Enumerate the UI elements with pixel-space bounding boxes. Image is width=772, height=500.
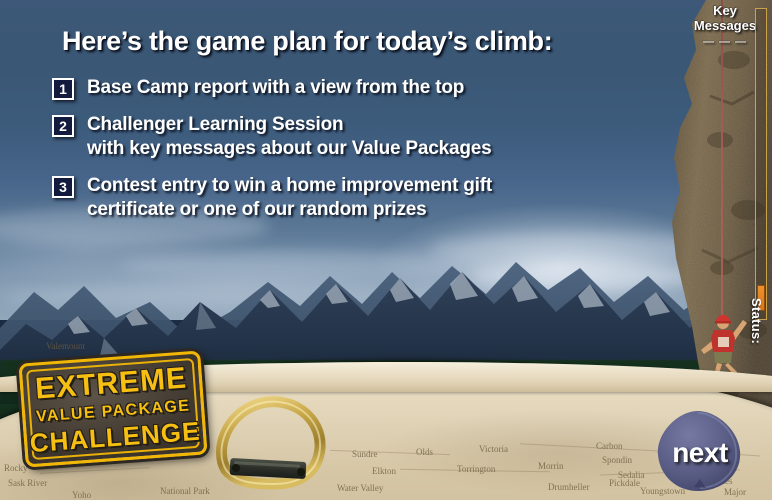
list-item-line: with key messages about our Value Packag… <box>87 137 492 161</box>
map-place-label: Sask River <box>8 478 47 488</box>
map-road-line <box>40 467 150 474</box>
map-place-label: Rocky <box>4 463 28 473</box>
list-item-number: 1 <box>52 78 74 100</box>
list-item: 3 Contest entry to win a home improvemen… <box>52 174 662 222</box>
agenda-list: 1 Base Camp report with a view from the … <box>52 76 662 235</box>
map-place-label: Carbon <box>596 441 623 451</box>
status-progress-bar[interactable] <box>755 8 767 320</box>
key-messages-label: Key Messages — — — <box>688 3 762 50</box>
list-item-line: Contest entry to win a home improvement … <box>87 174 492 198</box>
key-messages-text: Key Messages <box>694 3 756 33</box>
next-button[interactable]: next <box>654 409 746 493</box>
map-place-label: Drumheller <box>548 482 589 492</box>
list-item-line: Challenger Learning Session <box>87 113 492 137</box>
logo-line-extreme: EXTREME <box>34 363 188 404</box>
list-item-text: Base Camp report with a view from the to… <box>87 76 464 100</box>
list-item-number: 2 <box>52 115 74 137</box>
map-place-label: Victoria <box>479 444 508 454</box>
map-place-label: Morrin <box>538 461 564 471</box>
list-item-text: Challenger Learning Session with key mes… <box>87 113 492 161</box>
list-item-text: Contest entry to win a home improvement … <box>87 174 492 222</box>
map-place-label: Water Valley <box>337 483 383 493</box>
carabiner-icon <box>208 392 328 496</box>
map-place-label: Valemount <box>46 341 85 351</box>
map-place-label: National Park <box>160 486 210 496</box>
list-item-number: 3 <box>52 176 74 198</box>
map-place-label: Spondin <box>602 455 632 465</box>
program-logo: EXTREME VALUE PACKAGE CHALLENGE <box>18 350 207 467</box>
list-item: 2 Challenger Learning Session with key m… <box>52 113 662 161</box>
map-place-label: Elkton <box>372 466 396 476</box>
map-place-label: Yoho <box>72 490 91 500</box>
list-item-line: certificate or one of our random prizes <box>87 198 492 222</box>
map-place-label: Pickdale <box>609 478 640 488</box>
page-title: Here’s the game plan for today’s climb: <box>62 26 552 57</box>
next-stone-icon <box>654 409 746 493</box>
slide-canvas: Key Messages — — — Status: Here’s the ga… <box>0 0 772 500</box>
key-messages-dashes: — — — <box>688 35 762 50</box>
list-item: 1 Base Camp report with a view from the … <box>52 76 662 100</box>
list-item-line: Base Camp report with a view from the to… <box>87 76 464 100</box>
